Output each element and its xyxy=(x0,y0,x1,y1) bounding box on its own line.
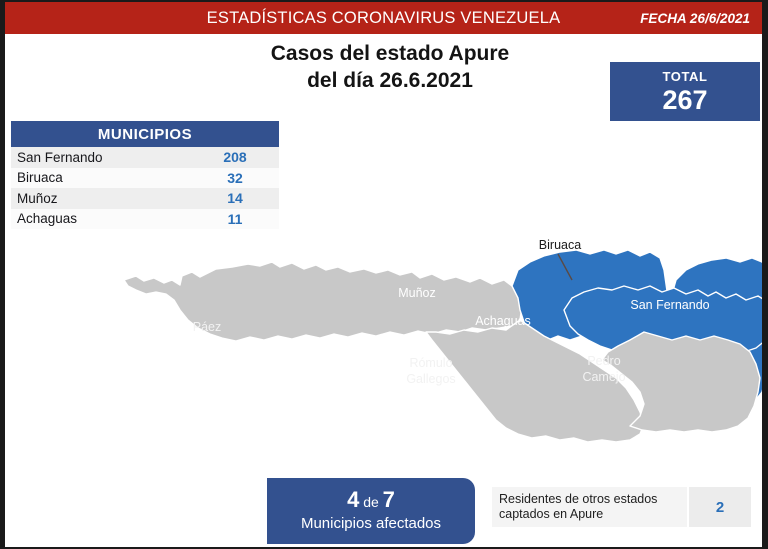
residents-label-line2: captados en Apure xyxy=(499,507,603,521)
affected-connector: de xyxy=(359,494,382,510)
header-bar: ESTADÍSTICAS CORONAVIRUS VENEZUELA FECHA… xyxy=(5,2,762,34)
page-title: Casos del estado Apure del día 26.6.2021 xyxy=(180,40,600,94)
affected-total: 7 xyxy=(383,487,395,512)
residents-other-states-box: Residentes de otros estados captados en … xyxy=(492,487,751,527)
infographic-root: ESTADÍSTICAS CORONAVIRUS VENEZUELA FECHA… xyxy=(0,0,768,549)
table-row: Muñoz 14 xyxy=(11,188,279,209)
map-region-paez xyxy=(124,262,522,341)
image-edge-right xyxy=(762,0,768,549)
table-header-row: MUNICIPIOS xyxy=(11,121,279,147)
table-cell-cases: 14 xyxy=(191,188,279,209)
table-header-municipios: MUNICIPIOS xyxy=(11,121,279,147)
table-row: Biruaca 32 xyxy=(11,168,279,189)
total-cases-box: TOTAL 267 xyxy=(610,62,760,121)
total-label: TOTAL xyxy=(662,69,707,85)
residents-label: Residentes de otros estados captados en … xyxy=(492,487,687,527)
table-cell-name: Biruaca xyxy=(11,168,191,189)
image-edge-top xyxy=(0,0,768,2)
table-cell-name: Muñoz xyxy=(11,188,191,209)
table-row: Achaguas 11 xyxy=(11,209,279,230)
table-cell-cases: 208 xyxy=(191,147,279,168)
affected-count: 4 xyxy=(347,487,359,512)
page-title-line2: del día 26.6.2021 xyxy=(180,67,600,94)
table-cell-cases: 11 xyxy=(191,209,279,230)
table-cell-cases: 32 xyxy=(191,168,279,189)
municipalities-table: MUNICIPIOS San Fernando 208 Biruaca 32 M… xyxy=(11,121,279,229)
affected-ratio: 4 de 7 xyxy=(347,488,395,514)
residents-value: 2 xyxy=(687,487,751,527)
table-row: San Fernando 208 xyxy=(11,147,279,168)
table-cell-name: Achaguas xyxy=(11,209,191,230)
affected-caption: Municipios afectados xyxy=(301,514,441,534)
header-date: FECHA 26/6/2021 xyxy=(640,2,750,34)
total-value: 267 xyxy=(662,85,707,115)
image-edge-left xyxy=(0,0,5,549)
table-cell-name: San Fernando xyxy=(11,147,191,168)
residents-label-line1: Residentes de otros estados xyxy=(499,492,657,506)
page-title-line1: Casos del estado Apure xyxy=(271,42,509,65)
affected-municipalities-box: 4 de 7 Municipios afectados xyxy=(267,478,475,544)
apure-state-map: Páez Muñoz Achaguas Biruaca San Fernando… xyxy=(120,236,768,476)
